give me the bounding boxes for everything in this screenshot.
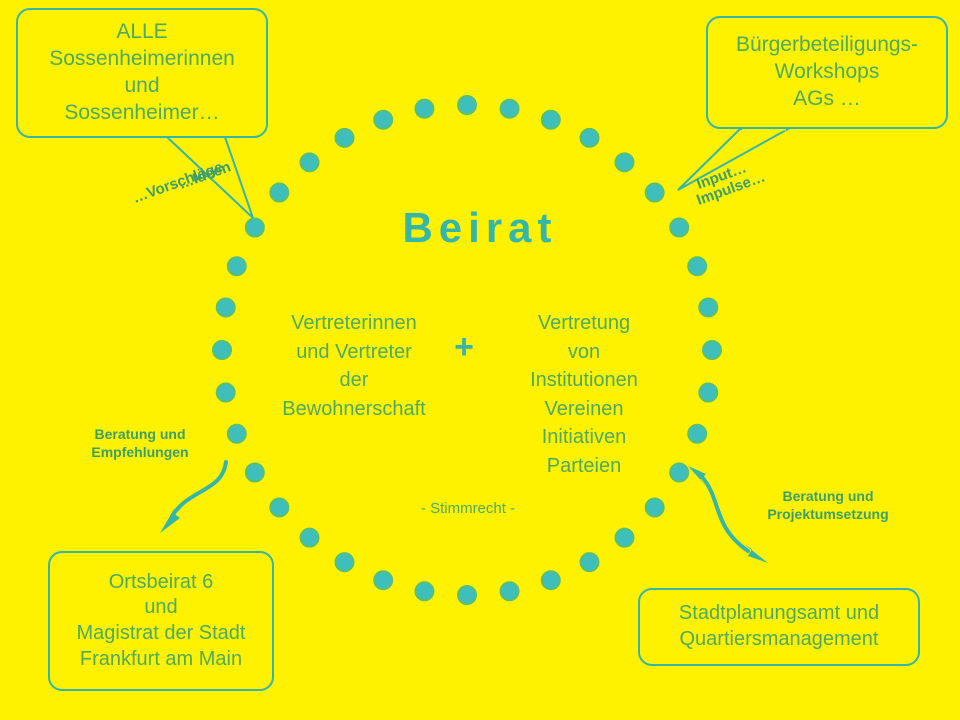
stimmrecht-note: - Stimmrecht - [348,500,588,517]
ring-dot [688,257,706,275]
ring-dot [646,184,664,202]
ring-dot [501,582,519,600]
ring-dot [228,425,246,443]
ring-dot [458,96,476,114]
box-ortsbeirat-text: Ortsbeirat 6undMagistrat der StadtFrankf… [60,570,262,672]
ring-dot [374,571,392,589]
bubble-workshops[interactable]: Bürgerbeteiligungs-WorkshopsAGs … [706,16,948,129]
ring-dot [246,464,264,482]
ring-dot [213,341,231,359]
arrowhead-up-left [688,466,706,486]
ring-dot [703,341,721,359]
bubble-alle-text: ALLESossenheimerinnenundSossenheimer… [28,19,256,127]
bubble-workshops-text: Bürgerbeteiligungs-WorkshopsAGs … [718,32,936,113]
ring-dot [646,498,664,516]
label-beratung-projektumsetzung: Beratung undProjektumsetzung [742,487,914,524]
box-stadtplanungsamt[interactable]: Stadtplanungsamt undQuartiersmanagement [638,588,920,666]
ring-dot [581,553,599,571]
ring-dot [501,100,519,118]
ring-dot [615,153,633,171]
arrowhead-down-left [160,506,180,533]
arrowhead-down-right [744,544,768,563]
ring-dot [217,384,235,402]
ring-dot [581,129,599,147]
ring-dot [336,553,354,571]
box-ortsbeirat[interactable]: Ortsbeirat 6undMagistrat der StadtFrankf… [48,551,274,691]
ring-dot [228,257,246,275]
arrow-beratung-empfehlungen [172,462,226,516]
ring-dot [301,529,319,547]
plus-icon: + [440,330,488,364]
ring-dot [217,298,235,316]
ring-dot [336,129,354,147]
ring-dot [542,571,560,589]
diagram-canvas: ALLESossenheimerinnenundSossenheimer… Bü… [0,0,960,720]
box-stadtplanungsamt-text: Stadtplanungsamt undQuartiersmanagement [650,601,908,652]
column-bewohnerschaft: Vertreterinnenund VertreterderBewohnersc… [256,309,452,423]
ring-dot [270,498,288,516]
ring-dot [699,384,717,402]
ring-dot [458,586,476,604]
diagram-title: Beirat [0,204,960,252]
ring-dot [301,153,319,171]
ring-dot [688,425,706,443]
ring-dot [374,111,392,129]
ring-dot [415,100,433,118]
ring-dot [270,184,288,202]
ring-dot [415,582,433,600]
column-institutionen: VertretungvonInstitutionenVereinenInitia… [486,309,682,481]
ring-dot [699,298,717,316]
ring-dot [542,111,560,129]
label-beratung-empfehlungen: Beratung undEmpfehlungen [70,425,210,462]
ring-dot [615,529,633,547]
bubble-alle[interactable]: ALLESossenheimerinnenundSossenheimer… [16,8,268,138]
